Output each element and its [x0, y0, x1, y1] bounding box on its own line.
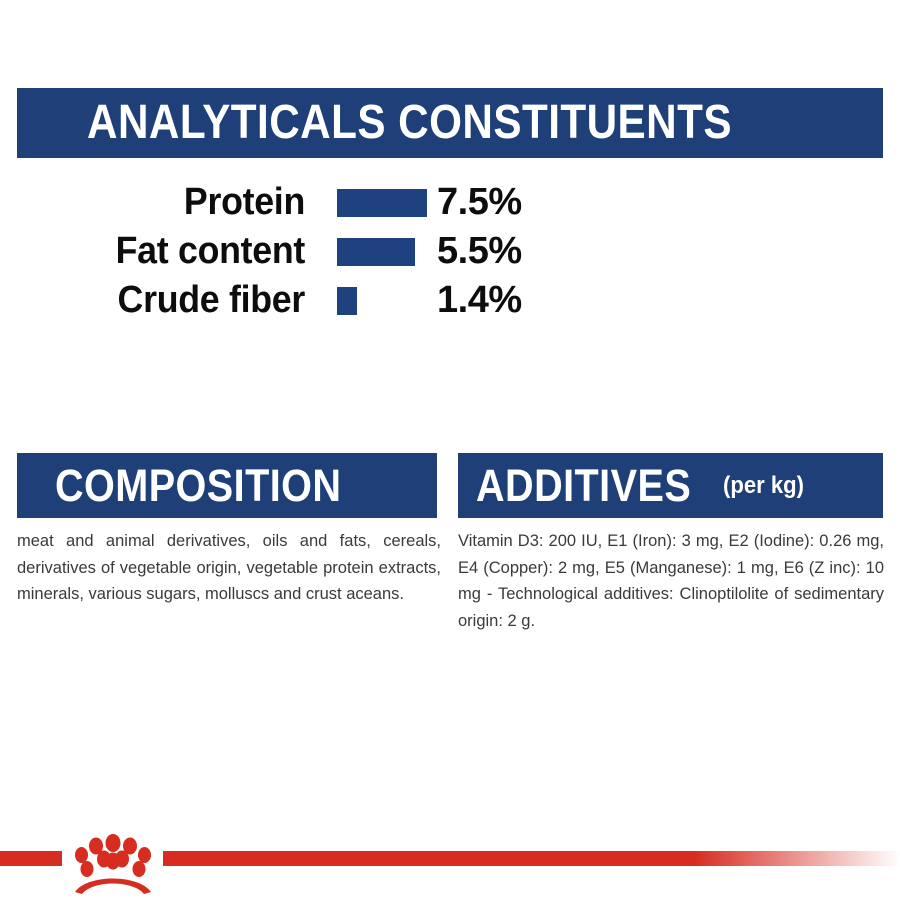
- composition-banner: COMPOSITION: [17, 453, 437, 518]
- analyticals-row: Crude fiber 1.4%: [0, 276, 900, 325]
- composition-text: meat and animal derivatives, oils and fa…: [17, 528, 441, 608]
- analyticals-bar: [337, 238, 415, 266]
- analyticals-row-label: Protein: [18, 181, 305, 224]
- footer-rule-right: [163, 851, 900, 866]
- additives-text: Vitamin D3: 200 IU, E1 (Iron): 3 mg, E2 …: [458, 528, 884, 635]
- analyticals-banner-title: ANALYTICALS CONSTITUENTS: [87, 99, 732, 147]
- analyticals-bar-cell: [337, 189, 437, 217]
- analyticals-row: Fat content 5.5%: [0, 227, 900, 276]
- analyticals-row: Protein 7.5%: [0, 178, 900, 227]
- analyticals-bar: [337, 287, 357, 315]
- analyticals-row-value: 7.5%: [437, 181, 522, 224]
- analyticals-row-label: Crude fiber: [18, 279, 305, 322]
- additives-banner-title: ADDITIVES: [476, 463, 691, 508]
- analyticals-row-value: 1.4%: [437, 279, 522, 322]
- footer-rule-left: [0, 851, 62, 866]
- analyticals-list: Protein 7.5% Fat content 5.5% Crude fibe…: [0, 178, 900, 325]
- analyticals-bar: [337, 189, 427, 217]
- analyticals-bar-cell: [337, 238, 437, 266]
- composition-banner-title: COMPOSITION: [55, 463, 341, 508]
- analyticals-row-value: 5.5%: [437, 230, 522, 273]
- additives-banner-subtitle: (per kg): [723, 472, 804, 500]
- analyticals-bar-cell: [337, 287, 437, 315]
- royal-canin-crown-logo: [63, 824, 163, 898]
- additives-banner: ADDITIVES (per kg): [458, 453, 883, 518]
- footer: [0, 826, 900, 900]
- analyticals-banner: ANALYTICALS CONSTITUENTS: [17, 88, 883, 158]
- analyticals-row-label: Fat content: [18, 230, 305, 273]
